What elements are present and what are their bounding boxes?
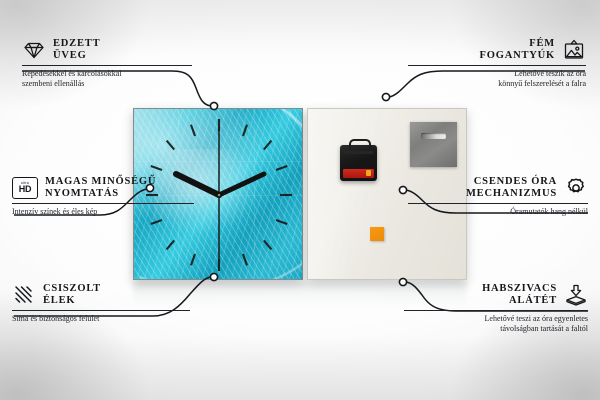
metal-hanger-plate: [410, 122, 457, 167]
feature-header: CSENDES ÓRA MECHANIZMUS: [408, 176, 588, 200]
feature-description: Repedésekkel és karcolásokkal szembeni e…: [22, 69, 192, 89]
divider: [408, 65, 586, 66]
feature-fem-fogantyuk: FÉM FOGANTYÚK Lehetővé teszik az óra kön…: [408, 38, 586, 89]
feature-csendes-ora-mechanizmus: CSENDES ÓRA MECHANIZMUS Óramutatók hang …: [408, 176, 588, 217]
feature-title: HABSZIVACS ALÁTÉT: [482, 283, 557, 307]
divider: [12, 203, 194, 204]
feature-header: CSISZOLT ÉLEK: [12, 283, 190, 307]
feature-edzett-uveg: EDZETT ÜVEG Repedésekkel és karcolásokka…: [22, 38, 192, 89]
diagonal-lines-icon: [12, 283, 36, 307]
battery: [343, 169, 374, 178]
feature-description: Intenzív színek és éles kép: [12, 207, 194, 217]
feature-header: ultra HD MAGAS MINŐSÉGŰ NYOMTATÁS: [12, 176, 194, 200]
feature-description: Óramutatók hang nélkül: [408, 207, 588, 217]
mechanism-hook: [349, 139, 371, 150]
gear-icon: [564, 176, 588, 200]
feature-description: Sima és biztonságos felület: [12, 314, 190, 324]
divider: [404, 310, 588, 311]
divider: [12, 310, 190, 311]
infographic-canvas: EDZETT ÜVEG Repedésekkel és karcolásokka…: [0, 0, 600, 400]
picture-frame-hanger-icon: [562, 38, 586, 62]
foam-spacer-pad: [370, 227, 384, 241]
feature-title: FÉM FOGANTYÚK: [480, 38, 555, 62]
feature-title: CSENDES ÓRA MECHANIZMUS: [466, 176, 557, 200]
feature-description: Lehetővé teszi az óra egyenletes távolsá…: [404, 314, 588, 334]
diamond-icon: [22, 38, 46, 62]
clock-mechanism-box: [340, 145, 377, 181]
feature-title: MAGAS MINŐSÉGŰ NYOMTATÁS: [45, 176, 156, 200]
feature-habszivacs-alatet: HABSZIVACS ALÁTÉT Lehetővé teszi az óra …: [404, 283, 588, 334]
arrow-onto-pad-icon: [564, 283, 588, 307]
feature-csiszolt-elek: CSISZOLT ÉLEK Sima és biztonságos felüle…: [12, 283, 190, 324]
divider: [22, 65, 192, 66]
mechanism-ridge: [344, 151, 373, 154]
feature-description: Lehetővé teszik az óra könnyű felszerelé…: [408, 69, 586, 89]
feature-magas-minosegu-nyomtatas: ultra HD MAGAS MINŐSÉGŰ NYOMTATÁS Intenz…: [12, 176, 194, 217]
feature-header: HABSZIVACS ALÁTÉT: [404, 283, 588, 307]
divider: [408, 203, 588, 204]
hanger-slot: [421, 133, 446, 139]
ultra-hd-icon: ultra HD: [12, 177, 38, 199]
callout-dot-fem-fogantyuk: [382, 93, 389, 100]
feature-title: EDZETT ÜVEG: [53, 38, 100, 62]
feature-header: EDZETT ÜVEG: [22, 38, 192, 62]
feature-header: FÉM FOGANTYÚK: [408, 38, 586, 62]
feature-title: CSISZOLT ÉLEK: [43, 283, 101, 307]
